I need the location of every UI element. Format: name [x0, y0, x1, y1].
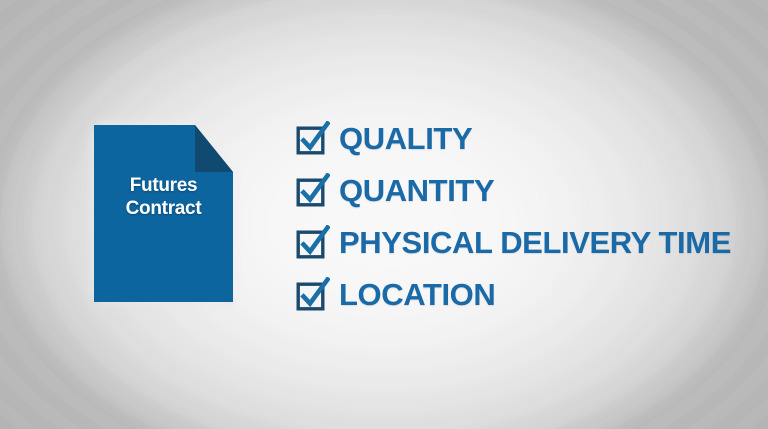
checklist-item-label: QUALITY — [339, 123, 472, 154]
checklist-item-label: PHYSICAL DELIVERY TIME — [339, 227, 731, 258]
checklist-item-quantity[interactable]: QUANTITY — [296, 164, 756, 216]
document-label-line-1: Futures — [94, 174, 233, 197]
checklist-item-location[interactable]: LOCATION — [296, 268, 756, 320]
document-label-line-2: Contract — [94, 197, 233, 220]
contract-specifications-checklist: QUALITY QUANTITY PHYSI — [296, 112, 756, 320]
checklist-item-physical-delivery-time[interactable]: PHYSICAL DELIVERY TIME — [296, 216, 756, 268]
checkbox-checked-icon[interactable] — [296, 121, 330, 155]
checklist-item-label: QUANTITY — [339, 175, 494, 206]
slide-content: Futures Contract QUALITY — [0, 0, 768, 429]
checkbox-checked-icon[interactable] — [296, 277, 330, 311]
checklist-item-label: LOCATION — [339, 279, 495, 310]
checklist-item-quality[interactable]: QUALITY — [296, 112, 756, 164]
document-icon-label: Futures Contract — [94, 174, 233, 220]
document-fold-corner — [195, 125, 233, 172]
checkbox-checked-icon[interactable] — [296, 173, 330, 207]
slide-canvas: Futures Contract QUALITY — [0, 0, 768, 429]
checkbox-checked-icon[interactable] — [296, 225, 330, 259]
